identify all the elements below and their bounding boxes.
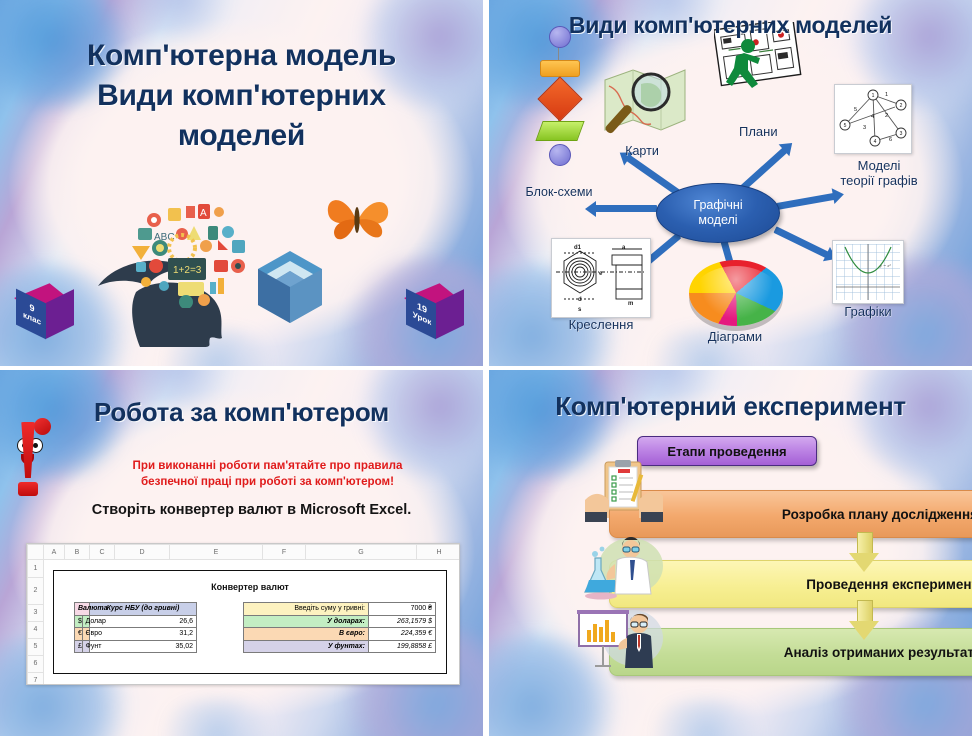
svg-text:y = x²: y = x² [879, 263, 891, 268]
presenter-chart-icon [575, 608, 667, 672]
col-A[interactable]: A [44, 545, 65, 560]
svg-text:5: 5 [844, 123, 847, 129]
down-arrow-icon [849, 600, 879, 640]
page-title: Комп'ютерний експеримент [489, 390, 972, 422]
cube-grade: 9 клас [14, 279, 76, 341]
map-magnifier-icon [599, 62, 689, 140]
svg-text:3: 3 [900, 131, 903, 137]
table-row[interactable]: У фунтах: 199,8858 £ [244, 640, 436, 653]
svg-text:1+2=3: 1+2=3 [173, 265, 202, 276]
hex-cube-icon [250, 247, 330, 327]
node-label-drawings: Креслення [545, 318, 657, 332]
page-title: Комп'ютерна модель Види комп'ютерних мод… [0, 36, 483, 156]
slide-types-of-models[interactable]: Види комп'ютерних моделей Графічні модел… [489, 0, 972, 366]
node-label-maps: Карти [597, 144, 687, 158]
svg-text:1: 1 [885, 92, 888, 98]
converter-frame: Конвертер валют Валюта Курс НБУ (до грив… [53, 570, 447, 674]
node-label-diagrams: Діаграми [687, 330, 783, 344]
gbp-label: У фунтах: [244, 640, 369, 653]
usd-value: 263,1579 $ [369, 615, 436, 628]
col-F[interactable]: F [263, 545, 306, 560]
center-label-line2: моделі [698, 213, 737, 228]
gbp-value: 199,8858 £ [369, 640, 436, 653]
svg-text:s: s [578, 307, 582, 313]
parabola-plot-icon: y = x² [832, 240, 904, 304]
col-D[interactable]: D [115, 545, 170, 560]
stage-experiment-label: Проведення експерименту [806, 577, 972, 592]
currency-rate: 35,02 [90, 640, 197, 653]
node-label-block-schemes: Блок-схеми [499, 185, 619, 199]
row-number[interactable]: 5 [28, 638, 44, 655]
header-currency: Валюта [75, 603, 90, 616]
flowchart-icon [537, 26, 581, 148]
svg-text:1: 1 [872, 93, 875, 99]
svg-text:A: A [200, 208, 207, 219]
table-row[interactable]: Введіть суму у гривні: 7000 ₴ [244, 603, 436, 616]
currency-symbol: $ [75, 615, 83, 628]
row-number[interactable]: 6 [28, 655, 44, 672]
svg-text:5: 5 [854, 107, 857, 113]
input-value[interactable]: 7000 ₴ [369, 603, 436, 616]
arrow-to-maps [626, 155, 681, 196]
table-header-row: Валюта Курс НБУ (до гривні) [75, 603, 197, 616]
clipboard-hands-icon [585, 460, 663, 522]
currency-name: Євро [82, 628, 90, 641]
table-row[interactable]: В євро: 224,359 € [244, 628, 436, 641]
currency-name: Фунт [82, 640, 90, 653]
input-label: Введіть суму у гривні: [244, 603, 369, 616]
node-label-graph-theory: Моделі теорії графів [819, 158, 939, 188]
butterfly-icon [322, 190, 394, 248]
row-number[interactable]: 2 [28, 577, 44, 604]
stages-button[interactable]: Етапи проведення [637, 436, 817, 466]
col-H[interactable]: H [417, 545, 461, 560]
stage-analysis-label: Аналіз отриманих результатів [784, 645, 972, 660]
watercolor-frame [489, 370, 972, 736]
slide-computer-experiment[interactable]: Комп'ютерний експеримент Етапи проведенн… [489, 370, 972, 736]
slide-work-at-computer[interactable]: Робота за комп'ютером При виконанні робо… [0, 370, 483, 736]
table-row[interactable]: £ Фунт 35,02 [75, 640, 197, 653]
eur-label: В євро: [244, 628, 369, 641]
svg-text:a: a [622, 245, 626, 251]
center-label-line1: Графічні [693, 198, 742, 213]
scientist-flask-icon [573, 536, 665, 600]
svg-text:3: 3 [863, 125, 866, 131]
graph-theory-icon: 12 543 152 436 [834, 84, 912, 154]
row-number[interactable]: 3 [28, 604, 44, 621]
currency-rate: 31,2 [90, 628, 197, 641]
node-label-plans: Плани [739, 125, 809, 139]
pie-chart-icon [689, 252, 783, 330]
conversion-table[interactable]: Введіть суму у гривні: 7000 ₴ У доларах:… [243, 602, 436, 653]
slide-title[interactable]: Комп'ютерна модель Види комп'ютерних мод… [0, 0, 483, 366]
svg-text:4: 4 [874, 139, 877, 145]
exclamation-mascot-icon [6, 420, 52, 510]
heart-of-icons: A ABC [124, 190, 254, 308]
safety-warning-text: При виконанні роботи пам'ятайте про прав… [72, 458, 463, 490]
row-number[interactable]: 1 [28, 560, 44, 578]
center-node-graphic-models[interactable]: Графічні моделі [656, 183, 780, 243]
table-row[interactable]: $ Долар 26,6 [75, 615, 197, 628]
col-G[interactable]: G [306, 545, 417, 560]
svg-text:2: 2 [900, 103, 903, 109]
col-C[interactable]: C [90, 545, 115, 560]
table-row[interactable]: У доларах: 263,1579 $ [244, 615, 436, 628]
col-E[interactable]: E [170, 545, 263, 560]
currency-symbol: € [75, 628, 83, 641]
technical-drawing-icon: d1a ed sm [551, 238, 651, 318]
stage-plan-label: Розробка плану дослідження [782, 507, 972, 522]
currency-name: Долар [82, 615, 90, 628]
usd-label: У доларах: [244, 615, 369, 628]
row-number[interactable]: 4 [28, 621, 44, 638]
excel-screenshot[interactable]: A B C D E F G H I J K 1 2 3 4 5 6 7 [26, 543, 460, 685]
page-title: Робота за комп'ютером [0, 396, 483, 428]
page-title: Види комп'ютерних моделей [489, 10, 972, 40]
table-row[interactable]: € Євро 31,2 [75, 628, 197, 641]
currency-symbol: £ [75, 640, 83, 653]
arrow-to-block-schemes [595, 205, 657, 212]
stage-plan[interactable]: Розробка плану дослідження [609, 490, 972, 538]
arrow-to-graph-theory [776, 193, 834, 210]
svg-text:4: 4 [871, 114, 874, 120]
row-number[interactable]: 7 [28, 672, 44, 685]
svg-text:d1: d1 [574, 245, 582, 251]
svg-text:2: 2 [885, 113, 888, 119]
col-B[interactable]: B [65, 545, 90, 560]
converter-caption: Конвертер валют [54, 571, 446, 592]
cube-lesson: 19 Урок [404, 279, 466, 341]
svg-text:6: 6 [889, 137, 892, 143]
rates-table[interactable]: Валюта Курс НБУ (до гривні) $ Долар 26,6… [74, 602, 197, 653]
node-label-graphs: Графіки [827, 305, 909, 319]
excel-column-headers: A B C D E F G H I J K [28, 545, 461, 560]
svg-text:m: m [628, 301, 633, 307]
down-arrow-icon [849, 532, 879, 572]
svg-text:d: d [578, 297, 582, 303]
slide-deck: Комп'ютерна модель Види комп'ютерних мод… [0, 0, 972, 736]
task-text: Створіть конвертер валют в Microsoft Exc… [40, 502, 463, 518]
eur-value: 224,359 € [369, 628, 436, 641]
